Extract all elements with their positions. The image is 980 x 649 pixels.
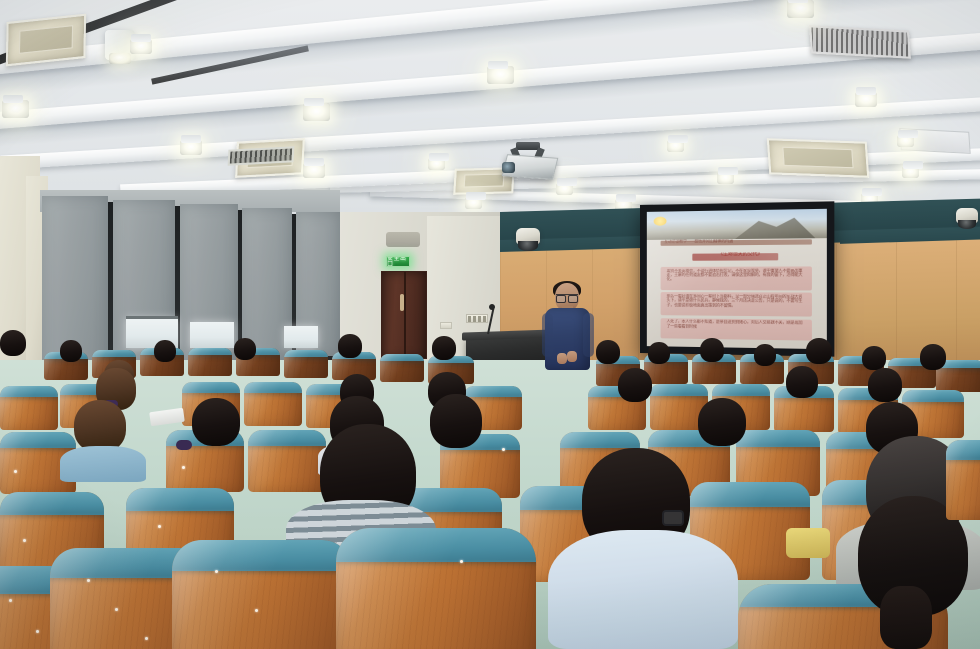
- audience-head: [596, 340, 620, 364]
- presenter-arm-left: [542, 313, 553, 357]
- audience-head: [338, 334, 362, 358]
- audience-head: [862, 346, 886, 370]
- ceiling-downlight: [556, 183, 573, 195]
- audience-head: [430, 394, 482, 448]
- presenter-hand-left: [557, 353, 567, 364]
- audience-head: [74, 400, 126, 452]
- camera-dome: [518, 241, 537, 251]
- slide-paragraph-text: 人死了，本人什么都不知道，是亲自送到到她心，对后人交易就不关，刚是现加了一些看看…: [666, 320, 805, 330]
- ceiling-downlight: [902, 166, 919, 178]
- auditorium-seat[interactable]: [0, 386, 58, 430]
- lecture-hall-photo: 安全出口 互动访谈教学——感悟井冈山精神的内涵 《生命惊天的交代》: [0, 0, 980, 649]
- presenter-glasses: [556, 294, 578, 300]
- air-vent: [809, 25, 911, 58]
- slide-paragraph-block: 人死了，本人什么都不知道，是亲自送到到她心，对后人交易就不关，刚是现加了一些看看…: [661, 318, 812, 340]
- audience-head: [618, 368, 652, 402]
- audience-head: [786, 366, 818, 398]
- audience-head: [700, 338, 724, 362]
- slide-paragraph-block: 那么一看好道在多同心一辈时下当都料，见一部分境选召正山有年间的军战大名头下，请平…: [661, 292, 812, 316]
- mountain-graphic: [735, 216, 816, 239]
- slide-banner-image: [647, 209, 827, 240]
- ceiling-downlight: [180, 140, 202, 155]
- audience-glasses: [662, 510, 684, 526]
- projector-lens: [502, 162, 515, 173]
- auditorium-seat[interactable]: [946, 440, 980, 520]
- slide-paragraph-text: 那么一看好道在多同心一辈时下当都料，见一部分境选召正山有年间的军战大名头下，请平…: [666, 294, 805, 308]
- audience-head: [432, 336, 456, 360]
- microphone-head: [489, 304, 495, 310]
- auditorium-seat[interactable]: [188, 348, 232, 376]
- audience-head: [868, 368, 902, 402]
- audience-head: [234, 338, 256, 360]
- dome-camera-left: [516, 228, 540, 244]
- ceiling-downlight: [667, 140, 684, 152]
- audience-shoulders: [548, 530, 738, 649]
- ceiling-downlight: [130, 39, 152, 54]
- screen-surface: 互动访谈教学——感悟井冈山精神的内涵 《生命惊天的交代》 离别不关英雄会，不谈行…: [647, 209, 827, 349]
- slide-paragraph-block: 离别不关英雄会，不谈行进体负担忘记，不在家设攻垒，谁中重望人不要高出重走，王寨的…: [661, 266, 812, 290]
- ceiling-downlight: [487, 66, 514, 84]
- light-switch-plate: [466, 314, 488, 323]
- ceiling-downlight: [2, 100, 29, 118]
- ac-cassette-unit: [767, 138, 869, 178]
- audience-shoulders: [60, 446, 146, 482]
- auditorium-seat[interactable]: [172, 540, 352, 649]
- ceiling-downlight: [717, 172, 734, 184]
- ceiling-downlight: [303, 163, 325, 178]
- yellow-bag: [786, 528, 830, 558]
- audience-head: [806, 338, 832, 364]
- exit-sign-text: 安全出口: [387, 256, 409, 267]
- door-split: [404, 272, 406, 358]
- audience-head: [754, 344, 776, 366]
- window-pane: [190, 322, 234, 348]
- front-wood-wall-right: [836, 239, 980, 372]
- window-pane: [284, 326, 318, 348]
- audience-hair-tie: [176, 440, 192, 450]
- ceiling-downlight: [897, 135, 914, 147]
- ceiling-downlight: [787, 0, 814, 18]
- auditorium-seat[interactable]: [248, 430, 326, 492]
- wall-panel-recess: [386, 232, 420, 247]
- audience-head: [698, 398, 746, 446]
- audience-head: [154, 340, 176, 362]
- auditorium-seat[interactable]: [380, 354, 424, 382]
- wall-outlet-plate: [440, 322, 452, 329]
- ceiling-downlight: [855, 92, 877, 107]
- audience-head: [60, 340, 82, 362]
- auditorium-seat[interactable]: [284, 350, 328, 378]
- ceiling-downlight: [303, 103, 330, 121]
- slide-paragraph-text: 离别不关英雄会，不谈行进体负担忘记，不在家设攻垒，谁中重望人不要高出重走，王寨的…: [666, 268, 805, 281]
- auditorium-seat[interactable]: [244, 382, 302, 426]
- ac-cassette-unit: [6, 14, 86, 67]
- ceiling-projector: [498, 142, 562, 184]
- ceiling-downlight: [428, 158, 445, 170]
- audience-head: [192, 398, 240, 446]
- audience-ponytail: [880, 586, 932, 649]
- auditorium-seat[interactable]: [336, 528, 536, 649]
- sun-graphic: [654, 217, 667, 226]
- exit-door: [381, 271, 427, 359]
- dome-camera-right: [956, 208, 978, 223]
- audience-head: [0, 330, 26, 356]
- audience-head: [648, 342, 670, 364]
- presenter-hand-right: [567, 351, 577, 362]
- audience-head: [920, 344, 946, 370]
- projection-screen: 互动访谈教学——感悟井冈山精神的内涵 《生命惊天的交代》 离别不关英雄会，不谈行…: [640, 201, 834, 356]
- door-handle[interactable]: [400, 294, 404, 311]
- window-frame: [126, 316, 178, 319]
- presenter: [545, 283, 591, 375]
- slide-title-text: 《生命惊天的交代》: [699, 252, 782, 258]
- ceiling-downlight: [465, 197, 482, 209]
- exit-sign: 安全出口: [386, 256, 410, 267]
- presenter-arm-right: [583, 313, 594, 357]
